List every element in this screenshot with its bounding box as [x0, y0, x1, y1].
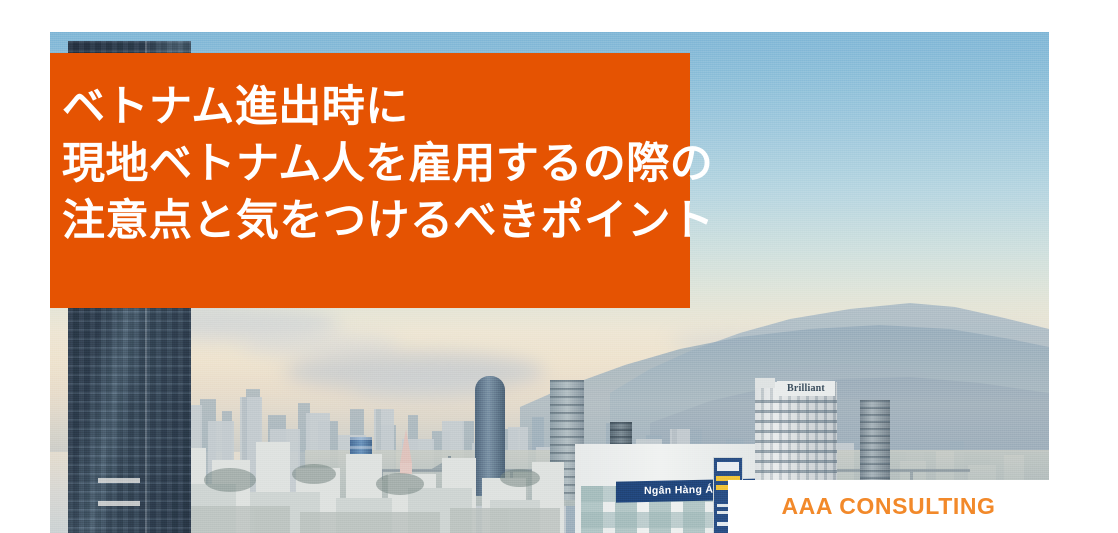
company-logo-text: AAA CONSULTING	[781, 493, 995, 520]
tower-vent	[98, 501, 140, 506]
title-line-1: ベトナム進出時に	[62, 79, 690, 136]
hotel-sign-brilliant: Brilliant	[777, 381, 835, 396]
title-line-2: 現地ベトナム人を雇用するの際の	[62, 136, 690, 193]
tower-vent	[98, 478, 140, 483]
hotel-rooftop-box	[755, 378, 775, 388]
banner-root: Ngân Hàng Á Châu Brilliant ベトナム進出時に 現地ベト…	[0, 0, 1118, 533]
title-line-3: 注意点と気をつけるべきポイント	[62, 193, 690, 250]
title-block: ベトナム進出時に 現地ベトナム人を雇用するの際の 注意点と気をつけるべきポイント	[50, 53, 690, 308]
logo-plate: AAA CONSULTING	[728, 480, 1049, 533]
